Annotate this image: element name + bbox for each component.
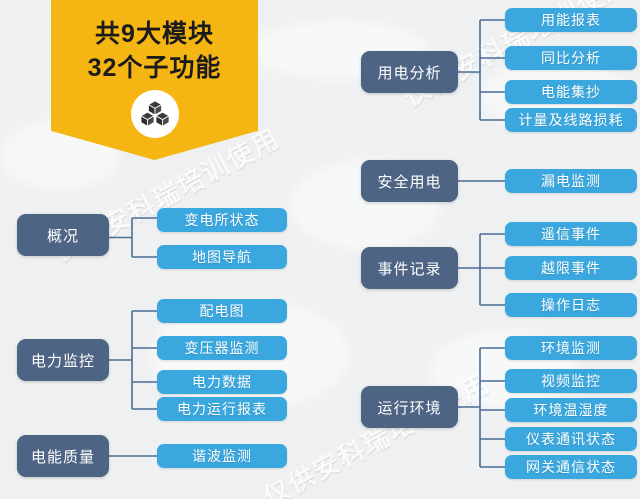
node-parent-power-monitoring[interactable]: 电力监控 xyxy=(17,339,109,381)
node-label: 仪表通讯状态 xyxy=(526,429,616,449)
node-label: 电力监控 xyxy=(31,350,95,371)
node-label: 用能报表 xyxy=(541,10,601,30)
node-child-meter-communication-status[interactable]: 仪表通讯状态 xyxy=(505,427,637,451)
node-label: 操作日志 xyxy=(541,295,601,315)
node-label: 网关通信状态 xyxy=(526,457,616,477)
connector-right-1 xyxy=(458,179,508,183)
title-banner: 共9大模块 32个子功能 xyxy=(51,0,258,160)
node-child-video-surveillance[interactable]: 视频监控 xyxy=(505,369,637,393)
node-child-transformer-monitoring[interactable]: 变压器监测 xyxy=(157,336,287,360)
node-child-map-navigation[interactable]: 地图导航 xyxy=(157,245,287,269)
node-label: 漏电监测 xyxy=(541,171,601,191)
node-child-power-data[interactable]: 电力数据 xyxy=(157,370,287,394)
connector-right-3 xyxy=(458,340,508,472)
node-label: 电力运行报表 xyxy=(177,399,267,419)
node-child-energy-meter-reading[interactable]: 电能集抄 xyxy=(505,80,637,104)
node-label: 概况 xyxy=(47,225,79,246)
node-label: 安全用电 xyxy=(377,171,441,192)
node-label: 视频监控 xyxy=(541,371,601,391)
node-label: 运行环境 xyxy=(377,397,441,418)
node-label: 越限事件 xyxy=(541,258,601,278)
node-child-power-operation-report[interactable]: 电力运行报表 xyxy=(157,397,287,421)
node-label: 同比分析 xyxy=(541,48,601,68)
node-parent-electricity-analysis[interactable]: 用电分析 xyxy=(361,51,458,93)
connector-right-0 xyxy=(458,10,508,125)
node-parent-electrical-safety[interactable]: 安全用电 xyxy=(361,160,458,202)
connector-left-2 xyxy=(108,454,160,458)
node-label: 变压器监测 xyxy=(185,338,260,358)
node-child-telesignal-event[interactable]: 遥信事件 xyxy=(505,222,637,246)
watermark-text-2: 仅供安科瑞培训使用 xyxy=(256,363,496,499)
node-label: 配电图 xyxy=(200,301,245,321)
node-label: 变电所状态 xyxy=(185,210,260,230)
node-label: 遥信事件 xyxy=(541,224,601,244)
node-label: 电力数据 xyxy=(192,372,252,392)
node-child-substation-status[interactable]: 变电所状态 xyxy=(157,208,287,232)
node-child-environment-monitoring[interactable]: 环境监测 xyxy=(505,336,637,360)
node-child-operation-log[interactable]: 操作日志 xyxy=(505,293,637,317)
node-label: 用电分析 xyxy=(377,62,441,83)
node-child-harmonic-monitoring[interactable]: 谐波监测 xyxy=(157,444,287,468)
node-label: 事件记录 xyxy=(377,258,441,279)
node-label: 电能集抄 xyxy=(541,82,601,102)
node-label: 地图导航 xyxy=(192,247,252,267)
node-child-limit-exceed-event[interactable]: 越限事件 xyxy=(505,256,637,280)
connector-left-0 xyxy=(108,205,160,270)
connector-left-1 xyxy=(108,300,160,415)
node-child-temperature-humidity[interactable]: 环境温湿度 xyxy=(505,398,637,422)
node-child-year-on-year-analysis[interactable]: 同比分析 xyxy=(505,46,637,70)
banner-title-line1: 共9大模块 xyxy=(51,14,258,50)
node-parent-event-log[interactable]: 事件记录 xyxy=(361,247,458,289)
node-child-energy-report[interactable]: 用能报表 xyxy=(505,8,637,32)
node-child-metering-and-line-loss[interactable]: 计量及线路损耗 xyxy=(505,108,637,132)
connector-right-2 xyxy=(458,225,508,310)
node-parent-power-quality[interactable]: 电能质量 xyxy=(17,435,109,477)
node-child-gateway-communication-status[interactable]: 网关通信状态 xyxy=(505,455,637,479)
cubes-icon xyxy=(131,90,179,138)
node-label: 电能质量 xyxy=(31,446,95,467)
node-child-leakage-monitoring[interactable]: 漏电监测 xyxy=(505,169,637,193)
node-parent-overview[interactable]: 概况 xyxy=(17,214,109,256)
node-label: 环境监测 xyxy=(541,338,601,358)
node-parent-operating-environment[interactable]: 运行环境 xyxy=(361,386,458,428)
node-label: 谐波监测 xyxy=(192,446,252,466)
node-child-distribution-diagram[interactable]: 配电图 xyxy=(157,299,287,323)
banner-title-line2: 32个子功能 xyxy=(51,48,258,84)
node-label: 环境温湿度 xyxy=(534,400,609,420)
mindmap-canvas: 仅供安科瑞培训使用 仅供安科瑞培训使用 仅供安科瑞培训使用 共9大模块 32个子… xyxy=(0,0,640,499)
node-label: 计量及线路损耗 xyxy=(519,110,624,130)
